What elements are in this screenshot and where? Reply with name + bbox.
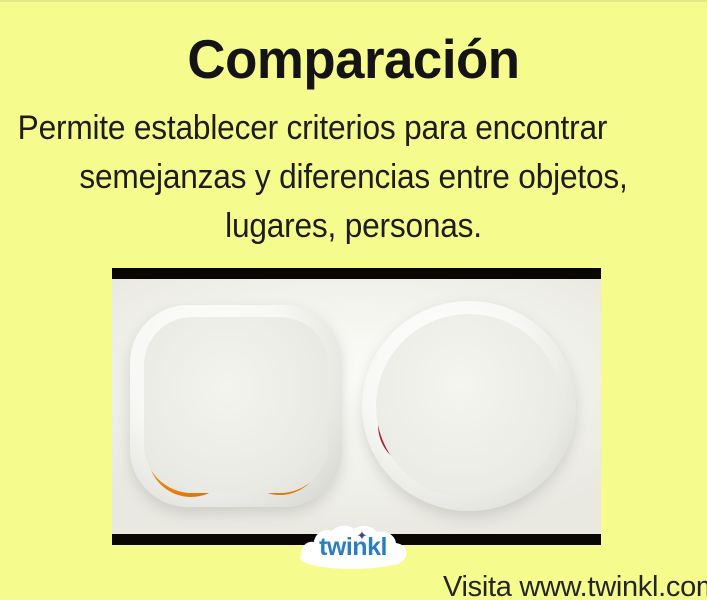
bowl-of-apples [362, 301, 576, 511]
orange-fruit [230, 329, 302, 405]
description-line-1: Permite establecer criterios para encont… [0, 104, 658, 153]
apple-fruit [378, 383, 460, 467]
apple-fruit [478, 359, 556, 449]
comparison-photo [112, 268, 601, 545]
orange-fruit [178, 353, 274, 449]
page-title: Comparación [14, 28, 693, 90]
poster: Comparación Permite establecer criterios… [0, 0, 707, 600]
apple-fruit [434, 409, 520, 493]
sparkle-icon: ✦ [356, 530, 368, 542]
visit-url-text: Visita www.twinkl.com [443, 571, 707, 600]
description-line-2: semejanzas y diferencias entre objetos, [25, 153, 683, 202]
photo-top-bar [112, 268, 601, 279]
bowl-of-oranges [130, 305, 342, 507]
description-line-3: lugares, personas. [25, 202, 683, 251]
twinkl-wordmark: twinkl [296, 533, 410, 561]
twinkl-logo[interactable]: twinkl ✦ [296, 524, 410, 570]
orange-fruit [148, 411, 234, 497]
photo-content [112, 279, 601, 534]
orange-fruit [148, 341, 226, 419]
apple-fruit [412, 319, 492, 403]
description-block: Permite establecer criterios para encont… [0, 104, 707, 251]
orange-fruit [238, 411, 322, 495]
top-edge-hairline [0, 0, 707, 2]
